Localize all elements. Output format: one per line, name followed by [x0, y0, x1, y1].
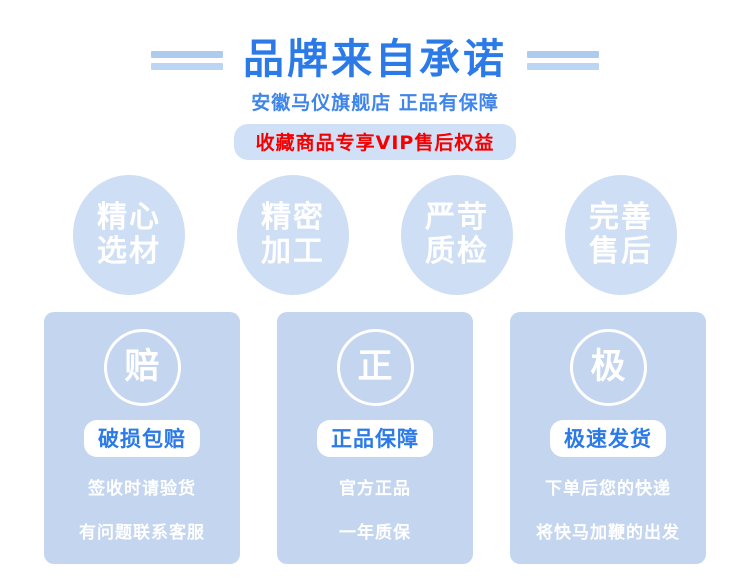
decoration-lines-left: [151, 51, 223, 70]
feature-line-1: 完善: [589, 201, 653, 235]
vip-badge-wrapper: 收藏商品专享VIP售后权益: [0, 124, 750, 160]
service-detail-line-1: 下单后您的快递: [545, 474, 671, 499]
decoration-lines-right: [527, 51, 599, 70]
feature-circle-processing: 精密 加工: [237, 175, 349, 295]
decoration-bar: [151, 63, 223, 70]
store-subtitle: 安徽马仪旗舰店 正品有保障: [0, 88, 750, 115]
feature-line-2: 加工: [261, 235, 325, 269]
promo-banner: 品牌来自承诺 安徽马仪旗舰店 正品有保障 收藏商品专享VIP售后权益 精心 选材…: [0, 0, 750, 588]
service-detail-line-2: 将快马加鞭的出发: [536, 518, 680, 543]
feature-circle-aftersales: 完善 售后: [565, 175, 677, 295]
card-glyph: 正: [357, 350, 392, 385]
feature-line-2: 售后: [589, 235, 653, 269]
title-row: 品牌来自承诺: [0, 33, 750, 85]
compensation-ring-icon: 赔: [104, 329, 181, 406]
feature-line-2: 选材: [97, 235, 161, 269]
card-glyph: 赔: [124, 350, 159, 385]
service-card-authenticity: 正 正品保障 官方正品 一年质保: [277, 312, 473, 564]
service-badge: 极速发货: [550, 420, 666, 457]
card-glyph: 极: [590, 350, 625, 385]
service-badge: 破损包赔: [84, 420, 200, 457]
page-title: 品牌来自承诺: [243, 39, 507, 80]
decoration-bar: [151, 51, 223, 58]
feature-line-1: 严苛: [425, 201, 489, 235]
service-detail-line-2: 有问题联系客服: [79, 518, 205, 543]
authenticity-ring-icon: 正: [337, 329, 414, 406]
service-detail-line-2: 一年质保: [339, 518, 411, 543]
feature-line-2: 质检: [425, 235, 489, 269]
service-detail-line-1: 签收时请验货: [88, 474, 196, 499]
service-card-fast-shipping: 极 极速发货 下单后您的快递 将快马加鞭的出发: [510, 312, 706, 564]
feature-circle-material: 精心 选材: [73, 175, 185, 295]
service-card-damage-compensation: 赔 破损包赔 签收时请验货 有问题联系客服: [44, 312, 240, 564]
header-section: 品牌来自承诺 安徽马仪旗舰店 正品有保障 收藏商品专享VIP售后权益: [0, 0, 750, 165]
service-cards-row: 赔 破损包赔 签收时请验货 有问题联系客服 正 正品保障 官方正品 一年质保 极…: [0, 312, 750, 572]
shipping-ring-icon: 极: [570, 329, 647, 406]
decoration-bar: [527, 63, 599, 70]
decoration-bar: [527, 51, 599, 58]
service-badge: 正品保障: [317, 420, 433, 457]
feature-circles-row: 精心 选材 精密 加工 严苛 质检 完善 售后: [0, 172, 750, 297]
feature-circle-inspection: 严苛 质检: [401, 175, 513, 295]
service-detail-line-1: 官方正品: [339, 474, 411, 499]
feature-line-1: 精密: [261, 201, 325, 235]
vip-benefit-badge: 收藏商品专享VIP售后权益: [234, 124, 517, 160]
feature-line-1: 精心: [97, 201, 161, 235]
